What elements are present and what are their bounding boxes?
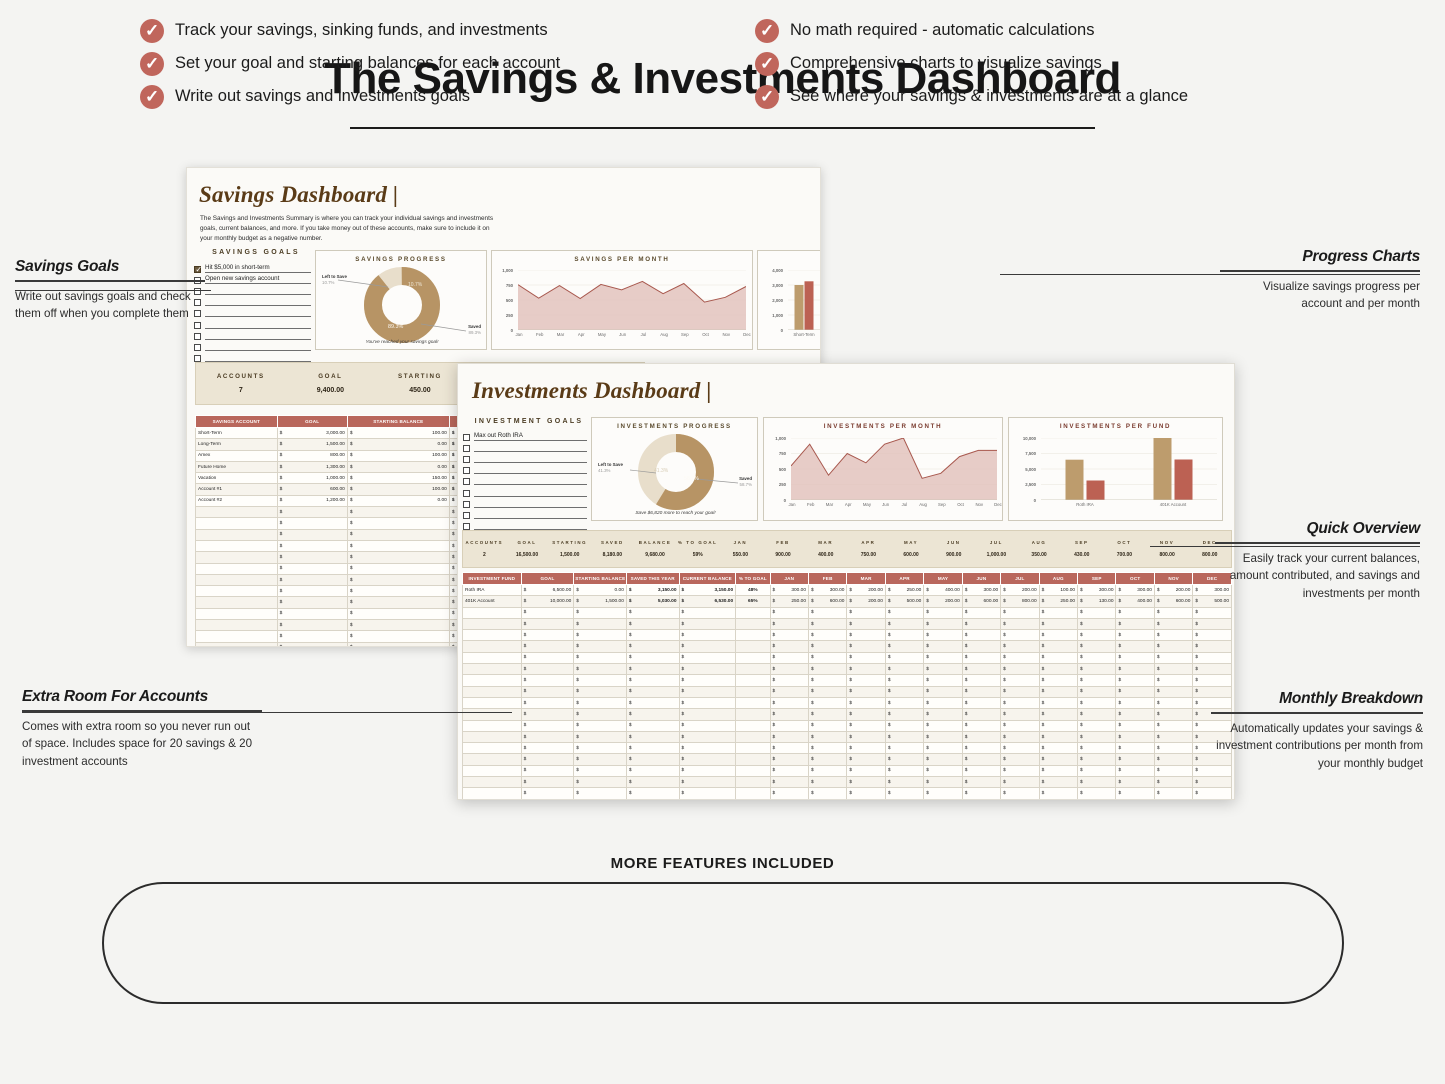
goal-label[interactable] [205,331,311,340]
goal-label[interactable] [205,297,311,306]
table-cell[interactable]: $200.00 [924,596,962,607]
table-cell[interactable]: $ [626,731,679,742]
table-cell[interactable]: $ [770,652,808,663]
table-cell[interactable]: $ [1154,720,1192,731]
table-row[interactable]: $$$$$$$$$$$$$$$$ [463,686,1232,697]
table-cell[interactable]: $ [1078,731,1116,742]
table-cell[interactable]: $ [885,754,923,765]
table-cell[interactable]: $ [1154,697,1192,708]
table-cell[interactable]: $ [277,608,347,619]
table-cell[interactable]: $ [1193,777,1232,788]
table-cell[interactable]: $ [679,607,736,618]
table-cell[interactable]: $ [808,720,846,731]
table-cell[interactable]: $800.00 [1001,596,1039,607]
table-cell[interactable]: $ [808,697,846,708]
table-cell[interactable]: $0.00 [574,585,627,596]
table-cell[interactable]: $ [277,574,347,585]
table-cell[interactable]: $ [808,652,846,663]
table-cell[interactable]: $ [808,743,846,754]
table-cell[interactable]: $ [1193,788,1232,799]
table-cell[interactable]: $ [1001,731,1039,742]
table-cell[interactable]: $ [626,630,679,641]
table-cell[interactable]: $ [1078,777,1116,788]
table-cell[interactable]: $200.00 [1001,585,1039,596]
table-cell[interactable]: $ [1001,607,1039,618]
table-cell[interactable]: $ [808,777,846,788]
table-cell[interactable] [463,630,522,641]
table-cell[interactable]: $ [1116,630,1154,641]
table-row[interactable]: $$$$$$$$$$$$$$$$ [463,630,1232,641]
table-cell[interactable]: $ [1078,697,1116,708]
goal-row[interactable] [463,463,587,474]
table-cell[interactable]: $600.00 [1154,596,1192,607]
table-cell[interactable]: $ [924,652,962,663]
table-cell[interactable]: $600.00 [962,596,1000,607]
table-cell[interactable] [463,788,522,799]
table-cell[interactable]: $ [962,675,1000,686]
table-cell[interactable]: $ [885,641,923,652]
table-cell[interactable]: $ [1078,607,1116,618]
table-cell[interactable]: $ [574,743,627,754]
table-header[interactable]: MAY [924,573,962,585]
table-cell[interactable]: $ [808,641,846,652]
table-cell[interactable]: $5,030.00 [626,596,679,607]
table-cell[interactable]: $ [1193,641,1232,652]
table-cell[interactable]: $ [521,630,574,641]
table-cell[interactable]: $ [1078,652,1116,663]
table-cell[interactable]: $ [626,720,679,731]
table-cell[interactable]: $ [924,641,962,652]
goal-label[interactable] [474,476,587,485]
table-cell[interactable]: $ [521,607,574,618]
table-cell[interactable]: $ [885,788,923,799]
table-cell[interactable]: $ [1001,686,1039,697]
table-cell[interactable]: $ [1001,788,1039,799]
table-cell[interactable] [196,529,278,540]
table-cell[interactable]: $ [808,765,846,776]
table-cell[interactable]: $0.00 [347,439,449,450]
table-header[interactable]: STARTING BALANCE [574,573,627,585]
table-cell[interactable]: $ [808,754,846,765]
table-cell[interactable]: $ [885,675,923,686]
table-header[interactable]: APR [885,573,923,585]
goal-row[interactable] [463,497,587,508]
checkbox-icon[interactable] [463,490,470,497]
table-cell[interactable]: $ [679,664,736,675]
table-cell[interactable] [736,731,770,742]
table-cell[interactable]: $ [626,641,679,652]
table-cell[interactable]: $ [679,765,736,776]
table-cell[interactable] [463,641,522,652]
table-cell[interactable]: $ [847,731,885,742]
goal-row[interactable] [463,441,587,452]
table-header[interactable]: JUL [1001,573,1039,585]
table-cell[interactable]: $ [770,675,808,686]
table-cell[interactable]: $ [1154,743,1192,754]
table-cell[interactable]: $ [885,731,923,742]
table-cell[interactable]: $ [962,664,1000,675]
table-cell[interactable]: $ [885,664,923,675]
table-cell[interactable]: $ [808,607,846,618]
table-cell[interactable]: $ [1001,697,1039,708]
table-cell[interactable]: $ [1001,720,1039,731]
table-cell[interactable]: $ [521,686,574,697]
table-cell[interactable]: $3,000.00 [277,428,347,439]
table-cell[interactable]: $ [521,777,574,788]
table-cell[interactable]: $250.00 [770,596,808,607]
table-cell[interactable] [736,641,770,652]
table-cell[interactable] [463,607,522,618]
table-cell[interactable]: $ [1039,664,1077,675]
table-cell[interactable]: $ [847,754,885,765]
table-cell[interactable]: $ [770,709,808,720]
table-cell[interactable]: $ [1001,618,1039,629]
table-cell[interactable]: $ [679,777,736,788]
investments-table-wrap[interactable]: INVESTMENT FUNDGOALSTARTING BALANCESAVED… [462,572,1232,800]
table-cell[interactable]: $ [962,720,1000,731]
goal-label[interactable] [474,510,587,519]
table-cell[interactable]: $ [626,788,679,799]
table-cell[interactable]: $ [574,641,627,652]
table-cell[interactable]: $ [1154,765,1192,776]
table-cell[interactable]: Vacation [196,473,278,484]
table-cell[interactable]: $ [885,765,923,776]
table-cell[interactable]: $ [574,664,627,675]
table-cell[interactable]: $ [770,697,808,708]
table-cell[interactable] [463,777,522,788]
table-cell[interactable]: $ [962,799,1000,800]
table-cell[interactable]: $ [347,608,449,619]
table-row[interactable]: $$$$$$$$$$$$$$$$ [463,799,1232,800]
table-cell[interactable]: $ [962,686,1000,697]
table-cell[interactable]: $ [347,529,449,540]
checkbox-icon[interactable] [463,478,470,485]
table-cell[interactable]: $ [521,731,574,742]
table-header[interactable]: FEB [808,573,846,585]
table-cell[interactable]: $ [626,697,679,708]
table-cell[interactable] [736,788,770,799]
table-cell[interactable]: $ [1116,799,1154,800]
table-cell[interactable]: $ [1193,630,1232,641]
table-cell[interactable] [196,540,278,551]
goal-row[interactable] [463,485,587,496]
table-cell[interactable]: $ [962,630,1000,641]
table-cell[interactable]: $ [924,675,962,686]
goal-label[interactable] [474,488,587,497]
table-cell[interactable]: $ [770,630,808,641]
table-cell[interactable] [196,631,278,642]
table-cell[interactable]: $ [626,765,679,776]
table-cell[interactable]: $ [574,697,627,708]
table-cell[interactable]: $ [962,754,1000,765]
table-cell[interactable]: $800.00 [277,450,347,461]
table-cell[interactable]: $ [347,507,449,518]
table-cell[interactable]: $ [1116,777,1154,788]
table-cell[interactable]: $ [277,620,347,631]
table-cell[interactable]: $ [1154,799,1192,800]
table-cell[interactable]: $ [885,720,923,731]
table-cell[interactable]: $ [347,574,449,585]
table-cell[interactable] [736,709,770,720]
table-cell[interactable]: $ [962,641,1000,652]
table-cell[interactable]: $ [770,777,808,788]
table-cell[interactable]: $ [521,618,574,629]
table-cell[interactable]: $ [1193,675,1232,686]
table-cell[interactable]: $ [521,720,574,731]
table-cell[interactable]: $ [924,765,962,776]
table-cell[interactable]: Amex [196,450,278,461]
table-cell[interactable] [736,686,770,697]
table-cell[interactable] [736,697,770,708]
table-cell[interactable]: $ [679,652,736,663]
table-cell[interactable]: $ [1116,675,1154,686]
table-cell[interactable]: $ [847,743,885,754]
table-cell[interactable]: $ [521,799,574,800]
table-cell[interactable]: $ [574,652,627,663]
table-cell[interactable]: $1,200.00 [277,495,347,506]
table-cell[interactable]: $ [1078,743,1116,754]
checkbox-icon[interactable] [194,355,201,362]
table-cell[interactable]: $300.00 [962,585,1000,596]
table-cell[interactable]: $3,150.00 [679,585,736,596]
table-header[interactable]: CURRENT BALANCE [679,573,736,585]
table-cell[interactable]: $ [1039,731,1077,742]
goal-row[interactable] [463,474,587,485]
table-cell[interactable]: $ [1154,709,1192,720]
goal-label[interactable]: Max out Roth IRA [474,432,587,441]
savings-goals-list[interactable]: Hit $5,000 in short-termOpen new savings… [194,262,311,362]
table-cell[interactable]: $ [885,743,923,754]
goal-row[interactable] [194,317,311,328]
checkbox-icon[interactable] [463,501,470,508]
table-cell[interactable]: $ [885,618,923,629]
checkbox-icon[interactable] [463,523,470,530]
table-cell[interactable]: $ [626,777,679,788]
table-cell[interactable]: $ [847,675,885,686]
table-cell[interactable] [196,507,278,518]
table-cell[interactable]: $ [1116,788,1154,799]
table-cell[interactable]: $ [1001,652,1039,663]
table-cell[interactable]: $ [679,788,736,799]
table-row[interactable]: $$$$$$$$$$$$$$$$ [463,618,1232,629]
table-cell[interactable]: $ [521,765,574,776]
goal-row[interactable] [194,295,311,306]
investment-goals-list[interactable]: Max out Roth IRA [463,430,587,530]
table-cell[interactable]: $500.00 [885,596,923,607]
table-cell[interactable]: $ [770,720,808,731]
table-cell[interactable]: $130.00 [1078,596,1116,607]
table-cell[interactable]: $ [521,664,574,675]
table-header[interactable]: SAVED THIS YEAR [626,573,679,585]
table-cell[interactable]: $ [574,675,627,686]
goal-row[interactable] [463,452,587,463]
table-header[interactable]: SEP [1078,573,1116,585]
table-cell[interactable]: $ [1039,720,1077,731]
table-cell[interactable] [196,563,278,574]
table-cell[interactable] [736,675,770,686]
table-cell[interactable]: Short-Term [196,428,278,439]
table-cell[interactable] [463,652,522,663]
goal-row[interactable]: Hit $5,000 in short-term [194,262,311,273]
table-cell[interactable]: $ [277,518,347,529]
table-cell[interactable] [196,608,278,619]
table-cell[interactable]: $ [1039,630,1077,641]
table-cell[interactable]: $ [1039,788,1077,799]
table-cell[interactable]: $ [808,799,846,800]
table-header[interactable]: NOV [1154,573,1192,585]
table-cell[interactable]: $ [885,799,923,800]
table-cell[interactable]: $ [924,743,962,754]
table-cell[interactable]: $ [277,597,347,608]
table-header[interactable]: JAN [770,573,808,585]
table-cell[interactable]: $ [1001,765,1039,776]
table-cell[interactable]: $ [574,709,627,720]
table-cell[interactable]: $ [1001,777,1039,788]
table-cell[interactable]: $ [574,630,627,641]
table-cell[interactable]: $ [1116,607,1154,618]
goal-label[interactable] [205,342,311,351]
table-cell[interactable]: $ [1039,675,1077,686]
table-cell[interactable]: $ [574,799,627,800]
table-cell[interactable]: $ [574,618,627,629]
table-cell[interactable]: $ [574,754,627,765]
table-cell[interactable]: $ [1039,618,1077,629]
table-cell[interactable]: $ [521,652,574,663]
table-cell[interactable]: $ [924,731,962,742]
table-cell[interactable]: $ [347,631,449,642]
table-cell[interactable]: $ [574,788,627,799]
table-cell[interactable]: $ [277,563,347,574]
table-cell[interactable]: $ [1193,664,1232,675]
table-row[interactable]: $$$$$$$$$$$$$$$$ [463,607,1232,618]
table-cell[interactable]: $ [770,641,808,652]
table-cell[interactable] [736,664,770,675]
table-cell[interactable]: $ [626,799,679,800]
table-cell[interactable]: $ [924,618,962,629]
table-cell[interactable]: $ [847,765,885,776]
table-cell[interactable]: $ [347,563,449,574]
table-cell[interactable]: $ [847,709,885,720]
table-cell[interactable]: $ [679,709,736,720]
table-cell[interactable]: $ [962,618,1000,629]
checkbox-icon[interactable] [463,456,470,463]
goal-label[interactable] [205,308,311,317]
table-cell[interactable]: $ [1078,675,1116,686]
goal-row[interactable] [463,508,587,519]
table-cell[interactable]: $ [1154,641,1192,652]
table-cell[interactable]: $ [808,618,846,629]
table-cell[interactable]: $10,000.00 [521,596,574,607]
table-header[interactable]: AUG [1039,573,1077,585]
table-cell[interactable]: $ [1078,765,1116,776]
table-header[interactable]: GOAL [521,573,574,585]
table-cell[interactable]: $ [1193,652,1232,663]
goal-label[interactable] [205,353,311,362]
checkbox-icon[interactable] [463,445,470,452]
table-cell[interactable]: $ [626,675,679,686]
table-cell[interactable]: $ [847,641,885,652]
table-cell[interactable] [463,709,522,720]
table-cell[interactable]: $ [808,731,846,742]
table-cell[interactable]: 65% [736,596,770,607]
table-cell[interactable]: $ [1154,630,1192,641]
table-header[interactable]: SAVINGS ACCOUNT [196,416,278,428]
table-cell[interactable] [463,743,522,754]
table-cell[interactable]: $ [1193,618,1232,629]
table-cell[interactable] [463,754,522,765]
table-cell[interactable]: $400.00 [1116,596,1154,607]
table-cell[interactable]: $ [885,686,923,697]
table-cell[interactable]: $ [1154,675,1192,686]
table-cell[interactable]: $ [924,686,962,697]
table-cell[interactable]: $ [679,697,736,708]
table-cell[interactable]: $ [1039,765,1077,776]
table-cell[interactable]: $ [885,697,923,708]
table-cell[interactable]: $100.00 [347,484,449,495]
table-cell[interactable]: $1,500.00 [574,596,627,607]
table-cell[interactable] [463,731,522,742]
table-cell[interactable]: $ [679,641,736,652]
table-cell[interactable]: $6,500.00 [521,585,574,596]
checkbox-icon[interactable] [463,467,470,474]
table-cell[interactable]: $ [574,720,627,731]
table-cell[interactable]: $ [347,642,449,647]
table-cell[interactable] [463,686,522,697]
table-cell[interactable]: $6,530.00 [679,596,736,607]
table-cell[interactable]: $ [1039,799,1077,800]
table-cell[interactable]: $ [1116,709,1154,720]
table-cell[interactable]: $ [277,552,347,563]
table-cell[interactable] [736,630,770,641]
table-cell[interactable]: $ [521,709,574,720]
table-cell[interactable]: $ [808,788,846,799]
table-cell[interactable]: $400.00 [924,585,962,596]
table-cell[interactable]: $ [1078,720,1116,731]
table-cell[interactable]: $ [1078,788,1116,799]
table-cell[interactable]: $ [1116,765,1154,776]
table-cell[interactable] [736,720,770,731]
table-cell[interactable] [196,642,278,647]
table-cell[interactable]: $ [1001,754,1039,765]
table-cell[interactable]: $ [770,799,808,800]
checkbox-icon[interactable] [194,333,201,340]
table-cell[interactable]: $ [847,697,885,708]
table-cell[interactable]: $ [1116,697,1154,708]
table-cell[interactable]: $ [1154,731,1192,742]
table-cell[interactable]: $ [679,743,736,754]
checkbox-icon[interactable] [463,434,470,441]
table-cell[interactable]: $ [1078,799,1116,800]
goal-label[interactable]: Hit $5,000 in short-term [205,264,311,273]
table-cell[interactable]: $300.00 [1116,585,1154,596]
table-cell[interactable]: $ [924,799,962,800]
table-cell[interactable]: $ [1039,641,1077,652]
table-row[interactable]: $$$$$$$$$$$$$$$$ [463,754,1232,765]
table-cell[interactable]: $ [847,799,885,800]
table-cell[interactable]: $ [626,743,679,754]
table-cell[interactable]: $ [521,754,574,765]
table-cell[interactable] [736,618,770,629]
table-cell[interactable]: $250.00 [885,585,923,596]
table-cell[interactable]: Long-Term [196,439,278,450]
goal-label[interactable] [474,521,587,530]
table-cell[interactable]: $3,150.00 [626,585,679,596]
table-cell[interactable]: $ [679,799,736,800]
table-header[interactable]: OCT [1116,573,1154,585]
table-cell[interactable] [736,743,770,754]
table-header[interactable]: % TO GOAL [736,573,770,585]
table-cell[interactable]: $ [1078,709,1116,720]
